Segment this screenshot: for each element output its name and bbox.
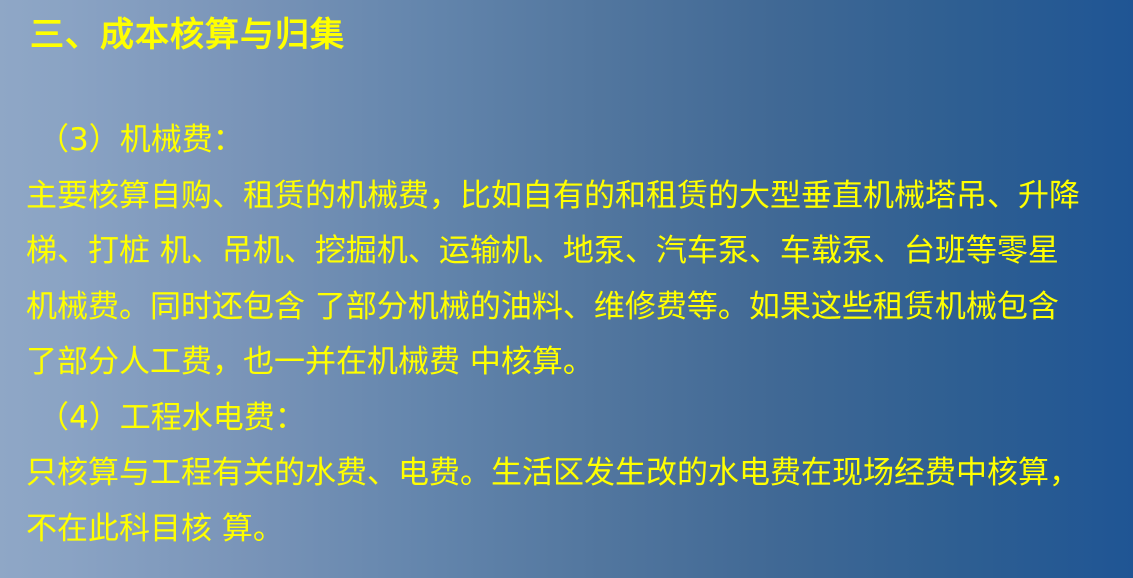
body-line-heading-3: （3）机械费：	[26, 113, 1126, 169]
body-line-heading-4: （4）工程水电费：	[26, 391, 1126, 447]
slide-body: （3）机械费： 主要核算自购、租赁的机械费，比如自有的和租赁的大型垂直机械塔吊、…	[26, 113, 1126, 557]
body-line: 梯、打桩 机、吊机、挖掘机、运输机、地泵、汽车泵、车载泵、台班等零星	[26, 224, 1126, 280]
slide-title: 三、成本核算与归集	[30, 12, 345, 58]
presentation-slide: 三、成本核算与归集 （3）机械费： 主要核算自购、租赁的机械费，比如自有的和租赁…	[0, 0, 1133, 578]
body-line: 主要核算自购、租赁的机械费，比如自有的和租赁的大型垂直机械塔吊、升降	[26, 169, 1126, 225]
body-line: 了部分人工费，也一并在机械费 中核算。	[26, 335, 1126, 391]
body-line: 只核算与工程有关的水费、电费。生活区发生改的水电费在现场经费中核算，	[26, 446, 1126, 502]
body-line: 机械费。同时还包含 了部分机械的油料、维修费等。如果这些租赁机械包含	[26, 280, 1126, 336]
body-line: 不在此科目核 算。	[26, 502, 1126, 558]
